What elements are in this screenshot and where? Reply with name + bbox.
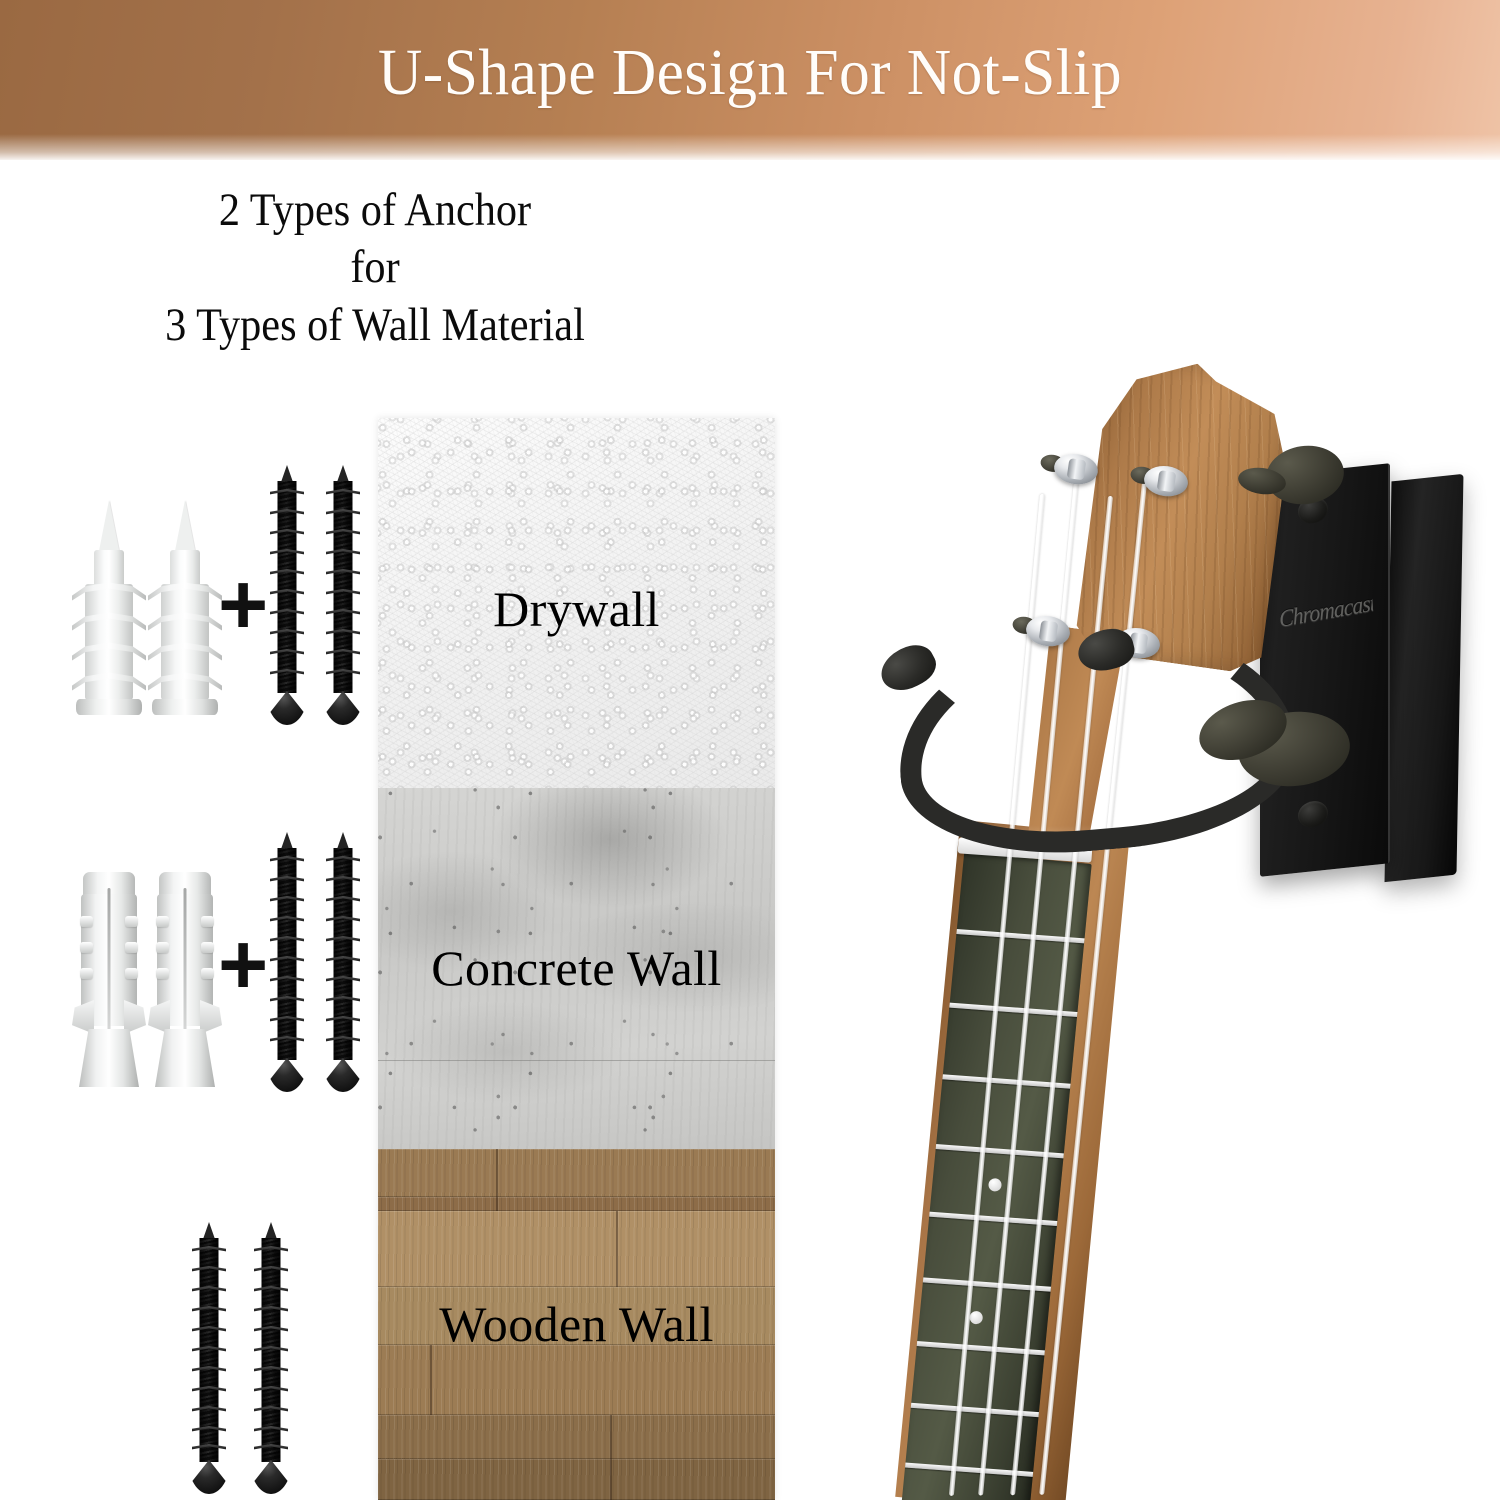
- anchor-wing: [72, 1000, 94, 1034]
- drywall-anchor: [148, 500, 222, 715]
- wood-plank: [378, 1211, 775, 1287]
- black-screw: [266, 832, 308, 1092]
- wood-seam: [496, 1149, 498, 1211]
- fret: [919, 1277, 1059, 1292]
- anchor-rib: [201, 942, 214, 953]
- wall-material-swatches: Drywall Concrete Wall Wooden Wall: [378, 418, 775, 1500]
- product-infographic: U-Shape Design For Not-Slip 2 Types of A…: [0, 0, 1500, 1500]
- hanger-wall-plate: Chromacast: [1260, 463, 1390, 877]
- tuner-post: [1067, 458, 1087, 480]
- anchor-wing: [124, 1000, 146, 1034]
- fret-inlay-dot: [969, 1311, 983, 1325]
- fret: [925, 1211, 1065, 1226]
- swatch-wooden: Wooden Wall: [378, 1149, 775, 1500]
- plate-edge: [1388, 463, 1390, 863]
- anchor-rib: [156, 916, 169, 927]
- swatch-label-drywall: Drywall: [378, 584, 775, 634]
- swatch-label-concrete: Concrete Wall: [378, 943, 775, 993]
- anchor-foot: [152, 699, 218, 715]
- plus-icon: +: [218, 562, 268, 648]
- anchor-rib: [80, 942, 93, 953]
- plus-icon: +: [218, 922, 268, 1008]
- black-screw: [266, 465, 308, 725]
- wood-seam: [430, 1345, 432, 1415]
- anchor-slot: [184, 888, 187, 1038]
- anchor-rib: [125, 916, 138, 927]
- screw-head: [266, 1058, 308, 1092]
- anchor-skirt: [155, 1029, 215, 1087]
- anchor-skirt: [79, 1029, 139, 1087]
- screw-head: [250, 1460, 292, 1494]
- screw-head: [188, 1460, 230, 1494]
- screw-shaft: [278, 848, 297, 1060]
- fret: [952, 929, 1091, 944]
- hanger-wall-plate-side: [1385, 474, 1464, 882]
- drywall-anchor: [72, 500, 146, 715]
- anchor-tip: [98, 500, 120, 556]
- tuner-post: [1157, 470, 1177, 492]
- anchor-rib: [201, 968, 214, 979]
- black-screw: [322, 832, 364, 1092]
- wood-plank: [378, 1197, 775, 1211]
- swatch-concrete: Concrete Wall: [378, 788, 775, 1149]
- black-screw: [250, 1222, 292, 1494]
- screw-head: [266, 691, 308, 725]
- hardware-column: +: [0, 0, 380, 1500]
- swatch-label-wooden: Wooden Wall: [378, 1299, 775, 1349]
- screw-head: [322, 691, 364, 725]
- screw-shaft: [278, 481, 297, 693]
- anchor-rib: [125, 942, 138, 953]
- tuning-peg: [1044, 446, 1107, 492]
- black-screw: [188, 1222, 230, 1494]
- black-screw: [322, 465, 364, 725]
- ukulele-on-hanger: Chromacast: [840, 330, 1500, 1500]
- screw-shaft: [334, 848, 353, 1060]
- anchor-slot: [108, 888, 111, 1038]
- hanger-brand-logo: Chromacast: [1278, 584, 1374, 640]
- fret: [913, 1341, 1053, 1356]
- hanger-arm-pad-left: [874, 637, 942, 699]
- wood-seam: [616, 1211, 618, 1287]
- screw-head: [322, 1058, 364, 1092]
- anchor-rib: [80, 968, 93, 979]
- swatch-drywall: Drywall: [378, 418, 775, 788]
- wood-plank: [378, 1345, 775, 1415]
- anchor-tip: [174, 500, 196, 556]
- wood-plank: [378, 1459, 775, 1500]
- wood-seam: [610, 1415, 612, 1500]
- anchor-rib: [156, 968, 169, 979]
- fret: [932, 1144, 1072, 1159]
- concrete-anchor: [74, 872, 144, 1087]
- tuning-peg: [1134, 458, 1197, 504]
- anchor-rib: [80, 916, 93, 927]
- concrete-seam-line: [378, 1060, 775, 1061]
- wood-plank: [378, 1149, 775, 1197]
- anchor-wing: [148, 1000, 170, 1034]
- fret: [945, 1002, 1085, 1017]
- screw-shaft: [334, 481, 353, 693]
- plate-mount-screw: [1298, 800, 1328, 829]
- wood-plank: [378, 1415, 775, 1459]
- anchor-rib: [156, 942, 169, 953]
- fret-inlay-dot: [988, 1178, 1002, 1192]
- anchor-body: [85, 584, 133, 700]
- fret: [907, 1403, 1047, 1418]
- anchor-foot: [76, 699, 142, 715]
- fret: [901, 1462, 1041, 1477]
- anchor-rib: [125, 968, 138, 979]
- concrete-anchor: [150, 872, 220, 1087]
- anchor-body: [161, 584, 209, 700]
- anchor-rib: [201, 916, 214, 927]
- fret: [938, 1074, 1078, 1089]
